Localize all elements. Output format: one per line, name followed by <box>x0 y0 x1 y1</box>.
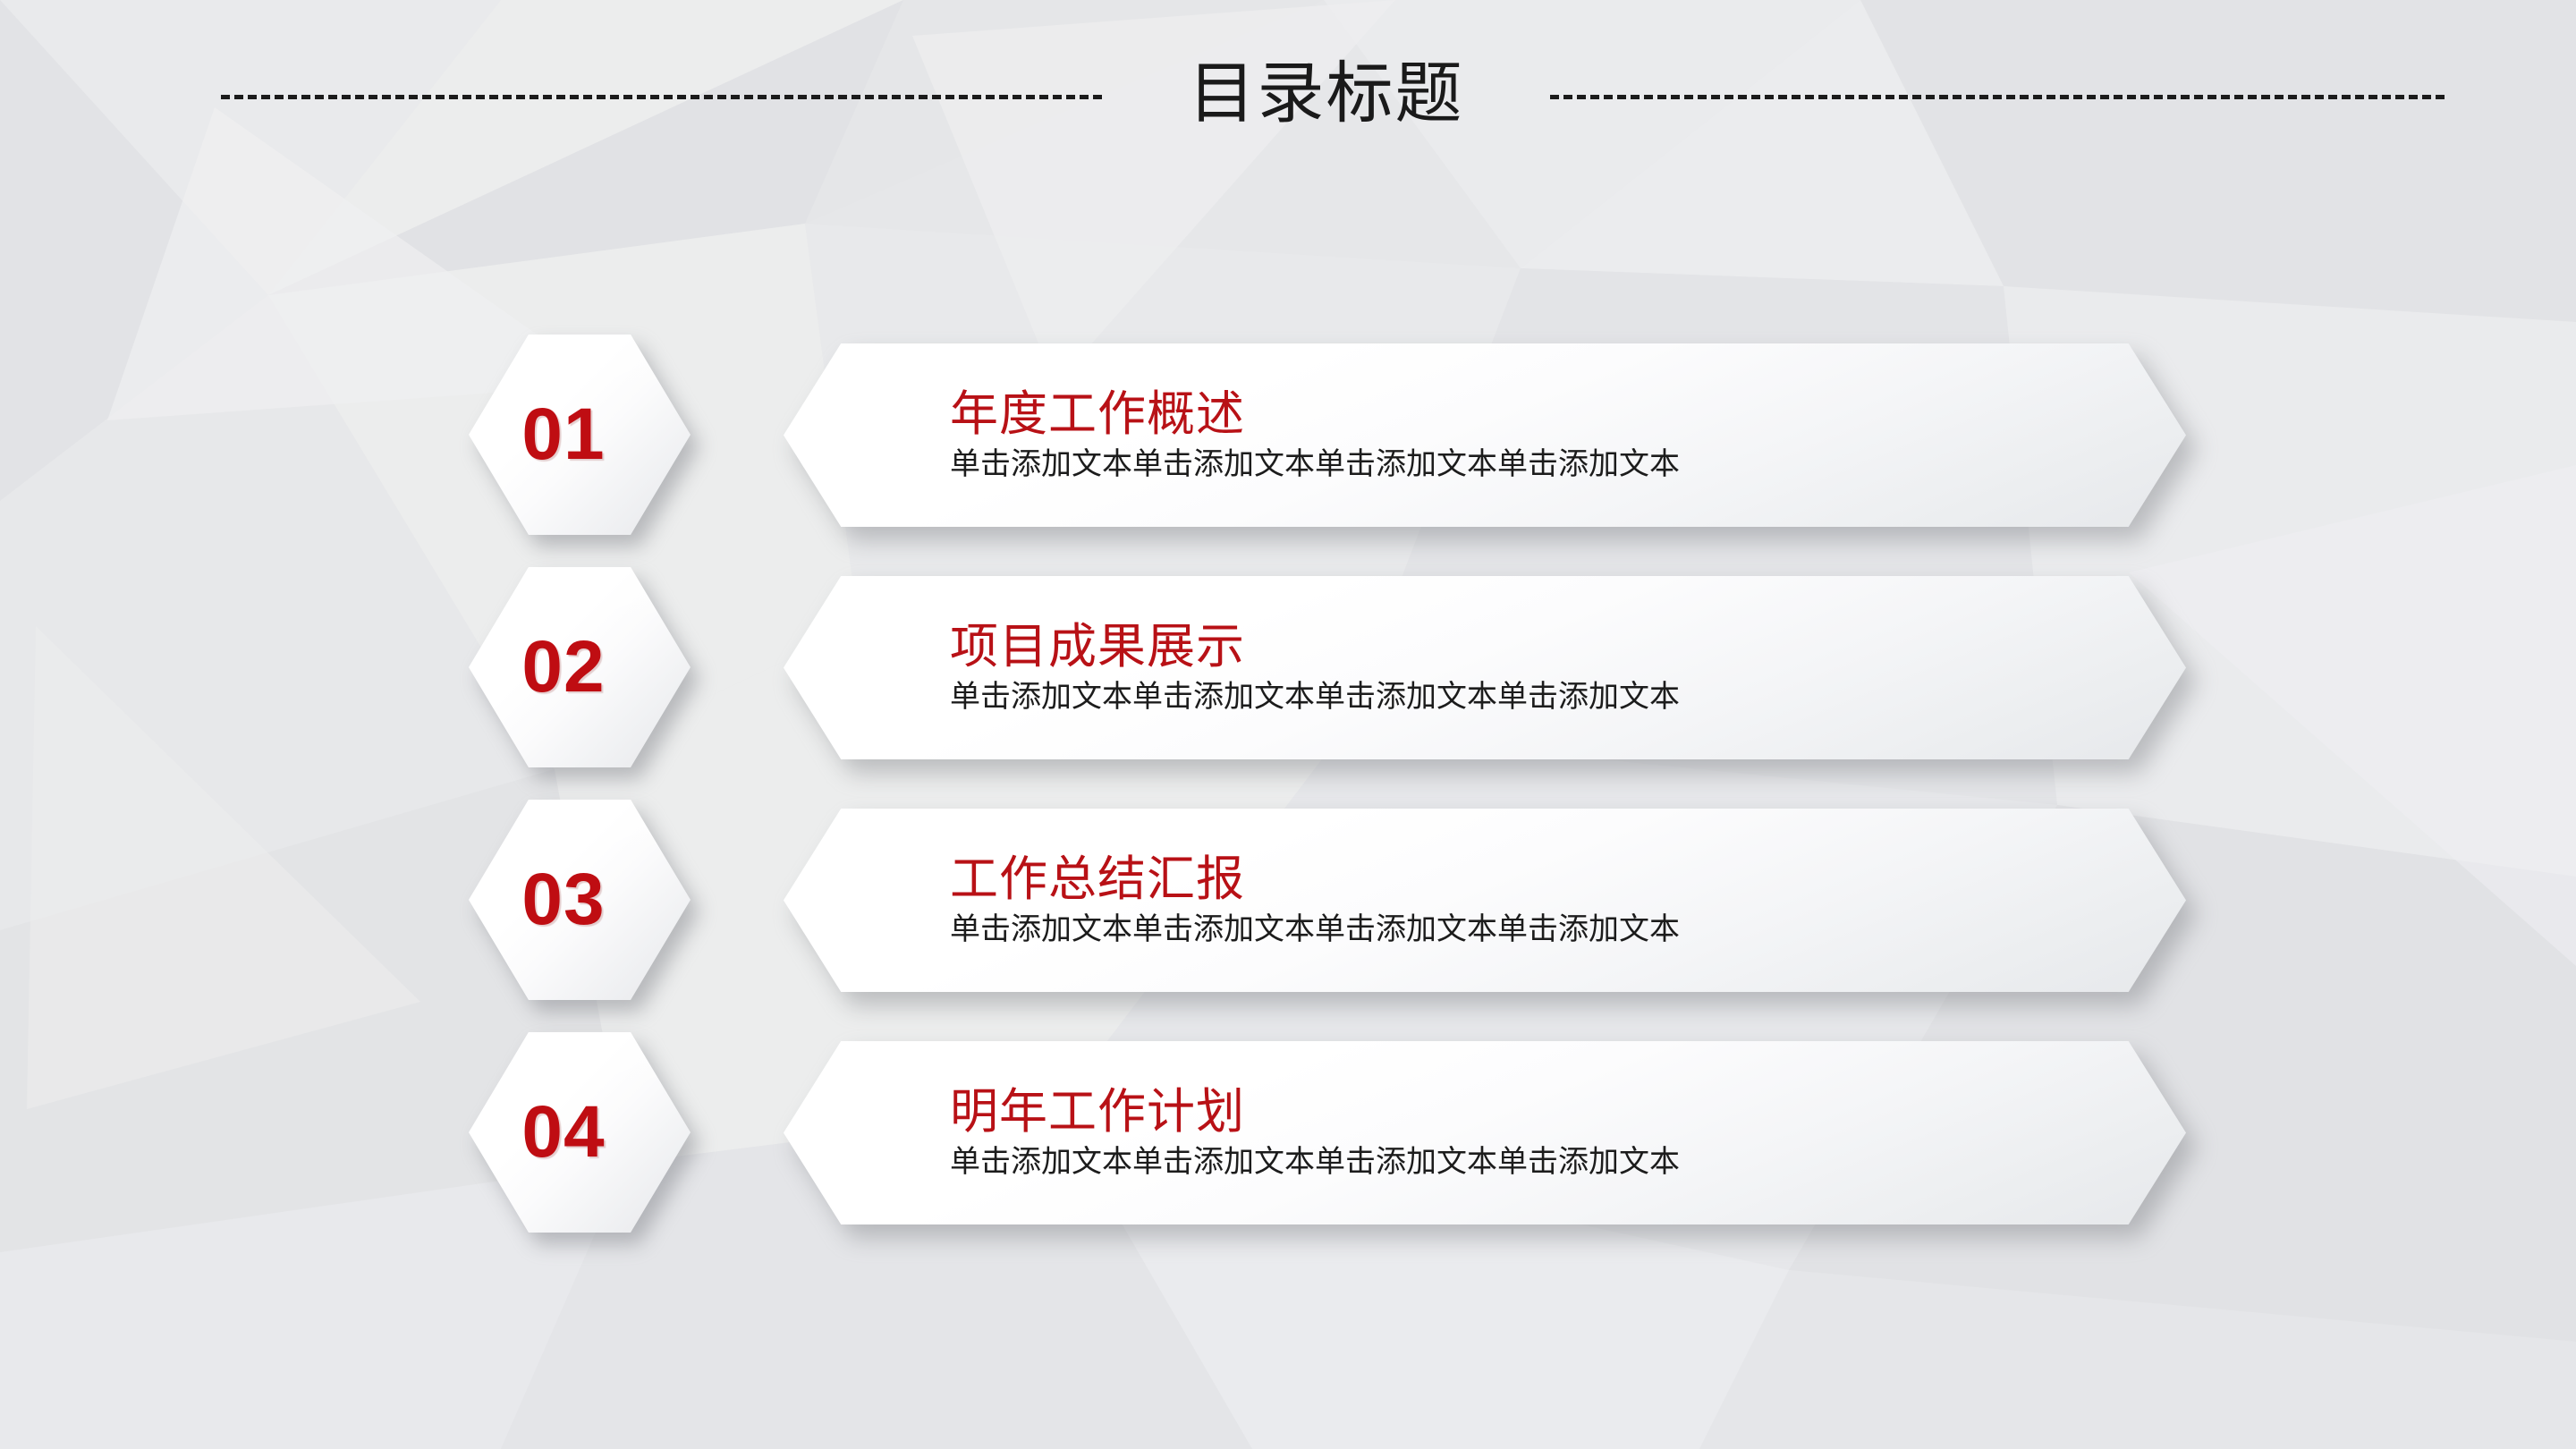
agenda-heading: 项目成果展示 <box>950 622 2114 673</box>
agenda-heading: 年度工作概述 <box>950 389 2114 440</box>
agenda-heading: 明年工作计划 <box>950 1087 2114 1138</box>
slide-title-row: 目录标题 <box>0 43 2576 150</box>
agenda-number-badge[interactable]: 03 <box>469 800 691 1000</box>
slide-canvas: 目录标题 01 年度工作概述 单击添加文本单击添加文本单击添加文本单击添加文本 <box>0 0 2576 1449</box>
agenda-number-badge[interactable]: 02 <box>469 567 691 767</box>
agenda-subtitle: 单击添加文本单击添加文本单击添加文本单击添加文本 <box>950 912 2114 946</box>
agenda-item[interactable]: 04 明年工作计划 单击添加文本单击添加文本单击添加文本单击添加文本 <box>0 1030 2576 1236</box>
agenda-number: 02 <box>453 567 674 767</box>
agenda-subtitle: 单击添加文本单击添加文本单击添加文本单击添加文本 <box>950 680 2114 714</box>
agenda-content-bar[interactable]: 明年工作计划 单击添加文本单击添加文本单击添加文本单击添加文本 <box>784 1041 2186 1224</box>
dashed-rule-right-icon <box>1550 95 2445 99</box>
agenda-item[interactable]: 03 工作总结汇报 单击添加文本单击添加文本单击添加文本单击添加文本 <box>0 798 2576 1004</box>
agenda-content-bar[interactable]: 项目成果展示 单击添加文本单击添加文本单击添加文本单击添加文本 <box>784 576 2186 759</box>
agenda-number: 03 <box>453 800 674 1000</box>
agenda-number-badge[interactable]: 04 <box>469 1032 691 1233</box>
agenda-content-body: 明年工作计划 单击添加文本单击添加文本单击添加文本单击添加文本 <box>950 1041 2114 1224</box>
agenda-heading: 工作总结汇报 <box>950 854 2114 905</box>
agenda-content-body: 年度工作概述 单击添加文本单击添加文本单击添加文本单击添加文本 <box>950 343 2114 527</box>
agenda-content-bar[interactable]: 工作总结汇报 单击添加文本单击添加文本单击添加文本单击添加文本 <box>784 809 2186 992</box>
dashed-rule-left-icon <box>221 95 1102 99</box>
agenda-content-body: 项目成果展示 单击添加文本单击添加文本单击添加文本单击添加文本 <box>950 576 2114 759</box>
agenda-item[interactable]: 02 项目成果展示 单击添加文本单击添加文本单击添加文本单击添加文本 <box>0 565 2576 771</box>
agenda-content-bar[interactable]: 年度工作概述 单击添加文本单击添加文本单击添加文本单击添加文本 <box>784 343 2186 527</box>
agenda-content-body: 工作总结汇报 单击添加文本单击添加文本单击添加文本单击添加文本 <box>950 809 2114 992</box>
page-title: 目录标题 <box>1188 60 1463 127</box>
agenda-subtitle: 单击添加文本单击添加文本单击添加文本单击添加文本 <box>950 447 2114 481</box>
agenda-list: 01 年度工作概述 单击添加文本单击添加文本单击添加文本单击添加文本 02 <box>0 0 2576 1449</box>
agenda-item[interactable]: 01 年度工作概述 单击添加文本单击添加文本单击添加文本单击添加文本 <box>0 333 2576 538</box>
agenda-number-badge[interactable]: 01 <box>469 335 691 535</box>
agenda-number: 04 <box>453 1032 674 1233</box>
agenda-subtitle: 单击添加文本单击添加文本单击添加文本单击添加文本 <box>950 1145 2114 1179</box>
agenda-number: 01 <box>453 335 674 535</box>
